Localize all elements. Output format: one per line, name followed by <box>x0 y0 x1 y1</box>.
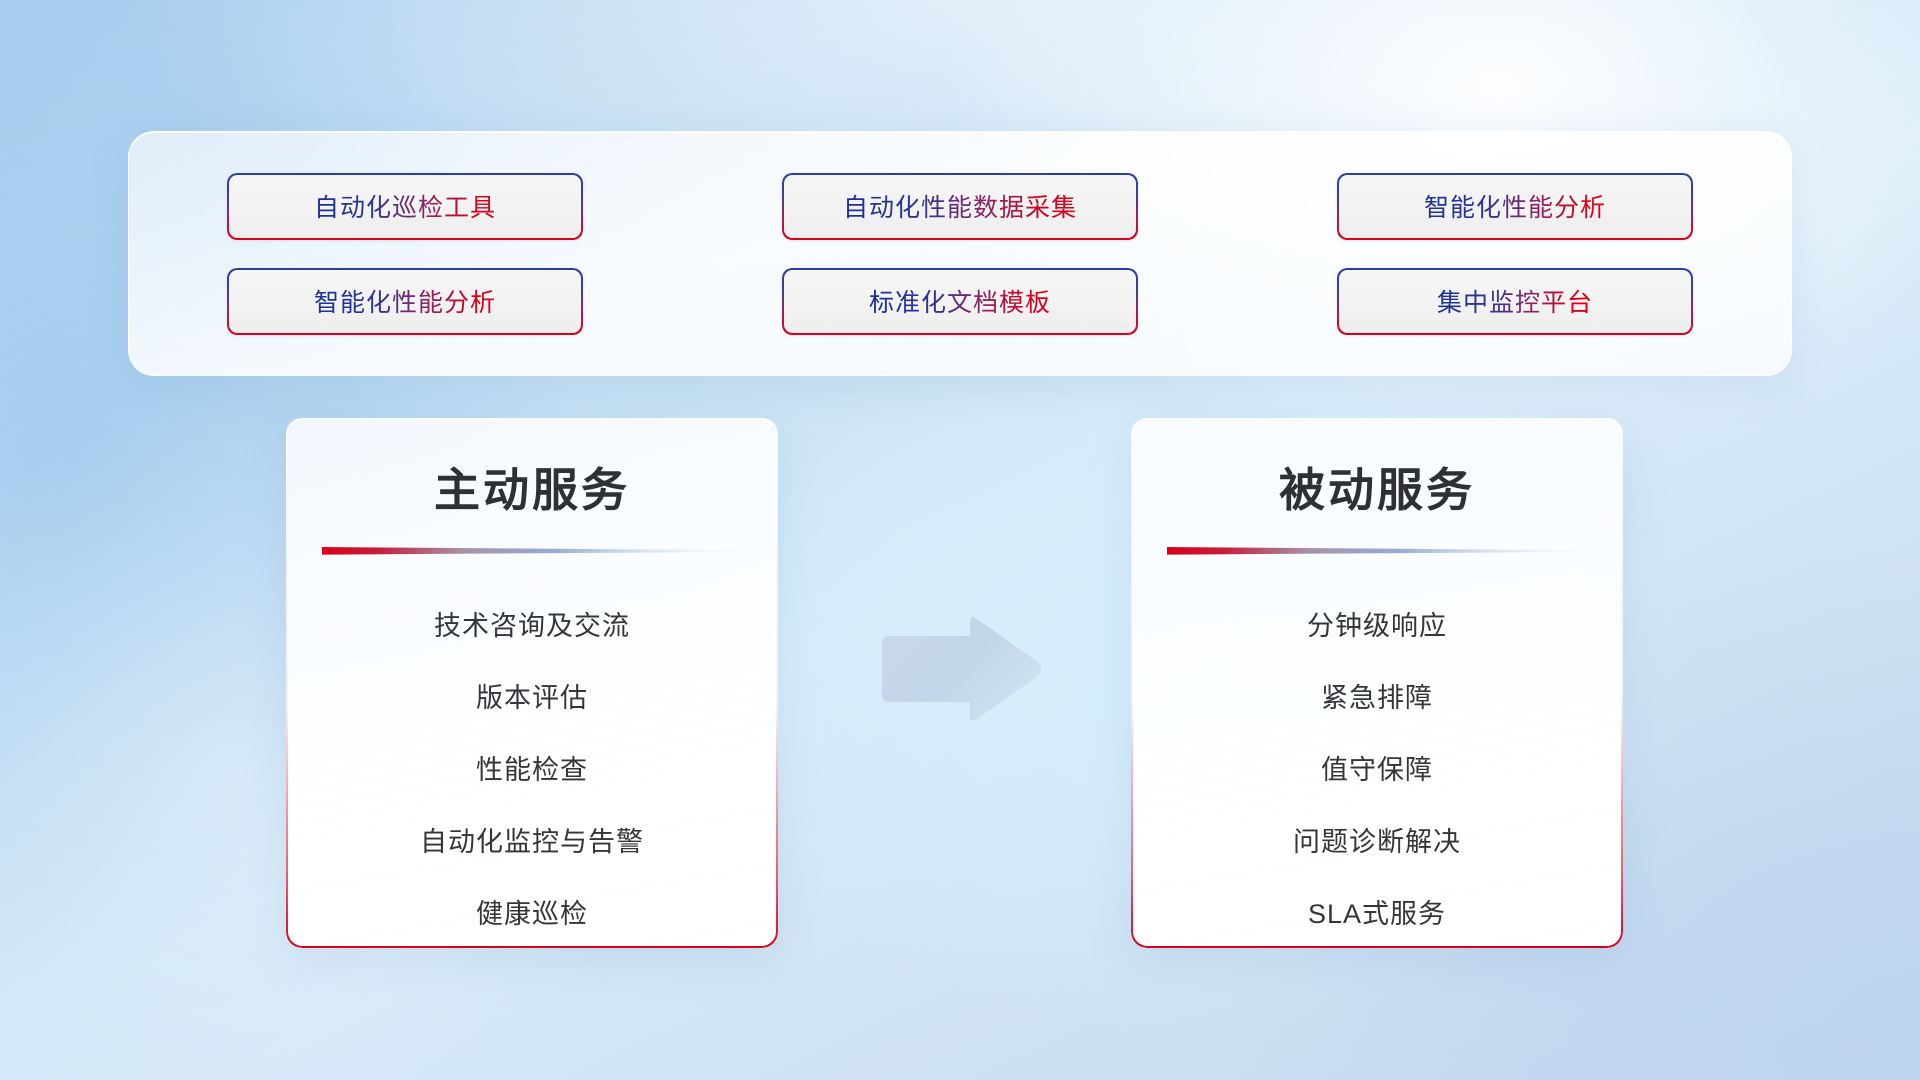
list-item: 值守保障 <box>1321 734 1433 806</box>
card-divider <box>322 546 742 556</box>
list-item: 性能检查 <box>476 734 588 806</box>
list-item: SLA式服务 <box>1308 878 1446 948</box>
arrow-right-icon <box>878 614 1044 724</box>
divider-gradient-shape <box>322 546 742 556</box>
capability-chip-5[interactable]: 标准化文档模板 <box>782 268 1138 335</box>
capability-chip-2[interactable]: 自动化性能数据采集 <box>782 173 1138 240</box>
service-card-active[interactable]: 主动服务 技术咨询及交流 版本评估 性能检查 自动化监控与告警 健康巡检 <box>286 418 778 948</box>
capability-chip-label: 智能化性能分析 <box>1424 188 1606 224</box>
capability-chip-4[interactable]: 智能化性能分析 <box>227 268 583 335</box>
capability-chip-label: 自动化性能数据采集 <box>843 188 1077 224</box>
list-item: 版本评估 <box>476 662 588 734</box>
capability-chip-3[interactable]: 智能化性能分析 <box>1337 173 1693 240</box>
card-title: 被动服务 <box>1131 454 1623 520</box>
list-item: 健康巡检 <box>476 878 588 948</box>
capability-chip-1[interactable]: 自动化巡检工具 <box>227 173 583 240</box>
divider-gradient-shape <box>1167 546 1587 556</box>
capabilities-panel: 自动化巡检工具 自动化性能数据采集 智能化性能分析 智能化性能分析 标准化文档模… <box>128 131 1792 376</box>
service-card-passive[interactable]: 被动服务 分钟级响应 紧急排障 值守保障 问题诊断解决 SLA式服务 <box>1131 418 1623 948</box>
list-item: 技术咨询及交流 <box>434 590 630 662</box>
capability-chip-grid: 自动化巡检工具 自动化性能数据采集 智能化性能分析 智能化性能分析 标准化文档模… <box>227 173 1693 335</box>
list-item: 紧急排障 <box>1321 662 1433 734</box>
card-title: 主动服务 <box>286 454 778 520</box>
card-divider <box>1167 546 1587 556</box>
capability-chip-label: 自动化巡检工具 <box>314 188 496 224</box>
capability-chip-6[interactable]: 集中监控平台 <box>1337 268 1693 335</box>
list-item: 分钟级响应 <box>1307 590 1447 662</box>
list-item: 问题诊断解决 <box>1293 806 1461 878</box>
arrow-right-shape <box>878 614 1044 724</box>
capability-chip-label: 智能化性能分析 <box>314 283 496 319</box>
capability-chip-label: 集中监控平台 <box>1437 283 1593 319</box>
card-item-list: 技术咨询及交流 版本评估 性能检查 自动化监控与告警 健康巡检 <box>286 590 778 948</box>
list-item: 自动化监控与告警 <box>420 806 644 878</box>
capability-chip-label: 标准化文档模板 <box>869 283 1051 319</box>
card-item-list: 分钟级响应 紧急排障 值守保障 问题诊断解决 SLA式服务 <box>1131 590 1623 948</box>
